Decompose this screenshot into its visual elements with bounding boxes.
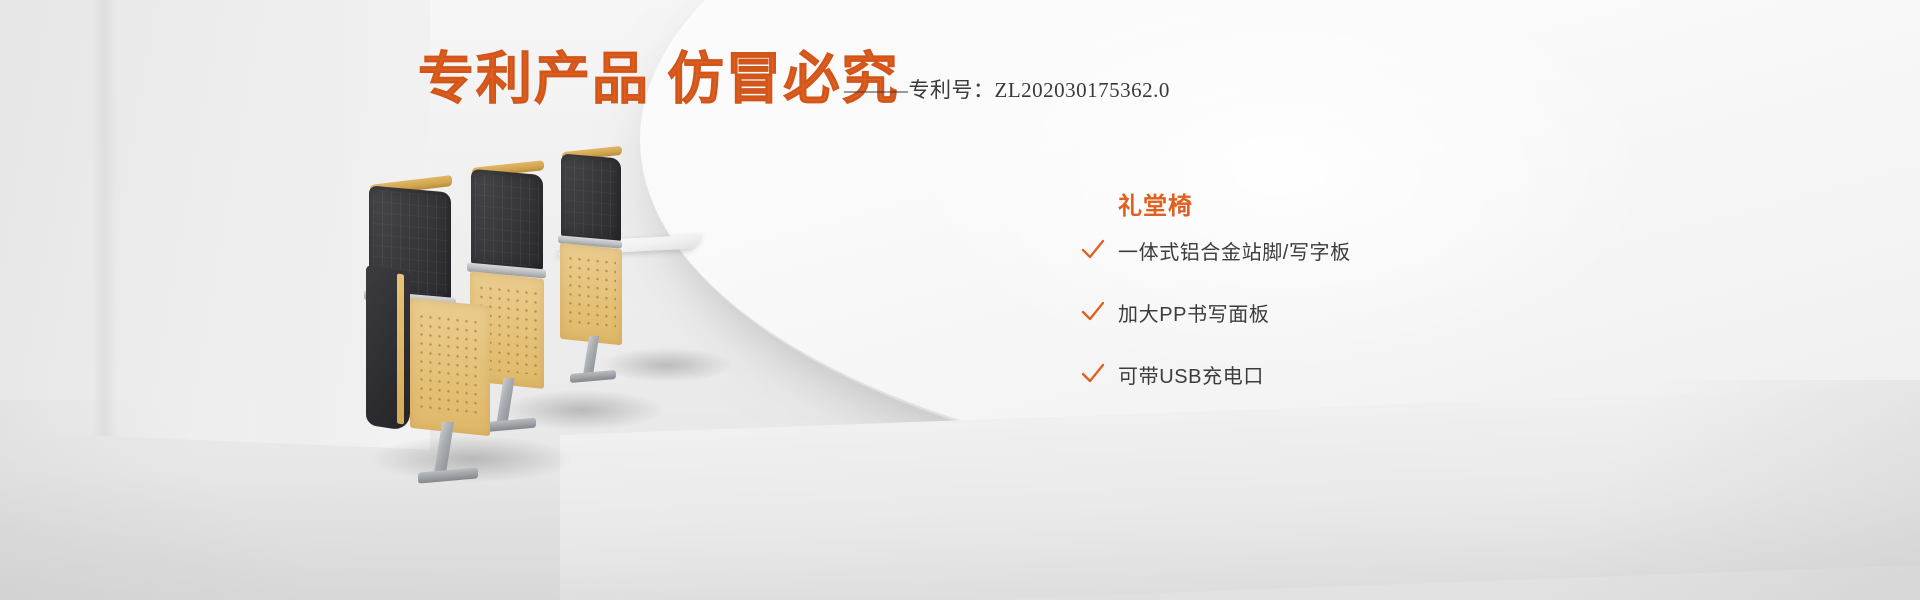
check-icon: [1080, 361, 1106, 387]
feature-text: 一体式铝合金站脚/写字板: [1118, 236, 1351, 265]
check-icon: [1080, 237, 1106, 263]
list-item: 加大PP书写面板: [1080, 294, 1600, 330]
chair-back-3: [561, 153, 621, 242]
chair-leg-3: [583, 336, 599, 376]
page-title: 专利产品 仿冒必究: [418, 48, 900, 110]
feature-text: 加大PP书写面板: [1118, 298, 1269, 327]
list-item: 一体式铝合金站脚/写字板: [1080, 232, 1600, 268]
chair-gold-stripe-1: [397, 273, 404, 424]
chair-shadow-3: [602, 348, 732, 382]
chair-foot-2: [482, 418, 536, 433]
patent-number-label: ———专利号：ZL202030175362.0: [844, 74, 1170, 104]
chair-seat-panel-3: [560, 243, 622, 346]
feature-text: 可带USB充电口: [1118, 360, 1264, 389]
product-category-title: 礼堂椅: [1118, 186, 1193, 221]
check-icon: [1080, 299, 1106, 325]
chair-back-2: [471, 169, 543, 271]
list-item: 可带USB充电口: [1080, 356, 1600, 392]
chair-seat-panel-1: [410, 298, 490, 436]
product-image-auditorium-chairs: [352, 140, 752, 480]
product-banner: 专利产品 仿冒必究 ———专利号：ZL202030175362.0 礼堂椅 一体…: [0, 0, 1920, 600]
chair-foot-3: [570, 370, 616, 383]
feature-list: 一体式铝合金站脚/写字板 加大PP书写面板 可带USB充电口: [1080, 232, 1600, 418]
